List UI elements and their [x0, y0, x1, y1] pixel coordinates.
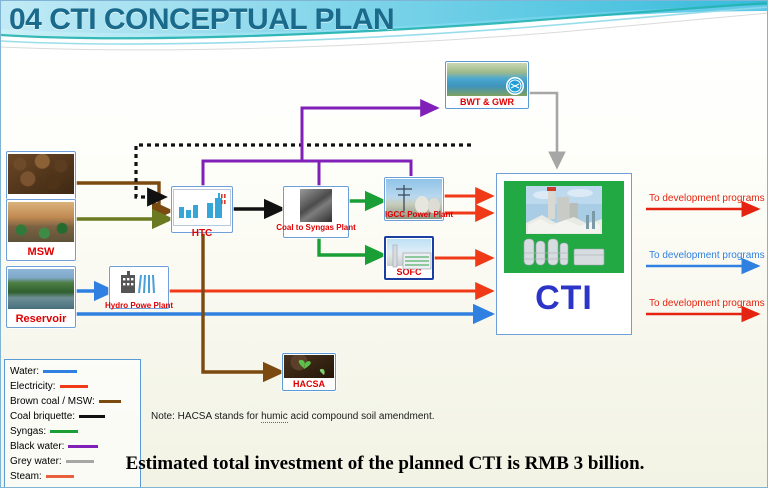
legend-swatch — [50, 430, 78, 433]
legend-label: Black water: — [10, 441, 64, 452]
node-cti[interactable]: CTI — [496, 173, 632, 335]
node-bwt-gwr[interactable]: BWT & GWR — [445, 61, 529, 109]
legend-item: Black water: — [10, 439, 135, 454]
cti-photo — [504, 181, 624, 273]
node-label: HACSA — [293, 380, 325, 389]
legend-label: Coal briquette: — [10, 411, 75, 422]
wire-brown-coal-to-htc — [76, 183, 171, 211]
node-label: MSW — [28, 247, 55, 258]
hydro-plant-glyph — [111, 269, 167, 295]
htc-plant-glyph — [174, 190, 230, 220]
note-underlined-word: humic — [261, 411, 288, 423]
bwt-gwr-photo — [447, 63, 527, 96]
hydro-icon — [111, 269, 167, 300]
sofc-photo — [387, 239, 431, 266]
note-suffix: acid compound soil amendment. — [288, 411, 435, 422]
node-label: Coal to Syngas Plant — [276, 224, 356, 232]
node-label: HTC — [192, 229, 213, 239]
legend-label: Syngas: — [10, 426, 46, 437]
note-prefix: Note: HACSA stands for — [151, 411, 261, 422]
legend-swatch — [68, 445, 98, 448]
legend-item: Brown coal / MSW: — [10, 394, 135, 409]
msw-photo — [8, 202, 74, 242]
node-label: BWT & GWR — [460, 98, 514, 107]
node-reservoir[interactable]: Reservoir — [6, 266, 76, 328]
legend-swatch — [46, 475, 74, 478]
slide-canvas: 04 CTI CONCEPTUAL PLAN — [0, 0, 768, 488]
wire-syngas-to-sofc — [319, 238, 384, 255]
node-htc[interactable]: HTC — [171, 186, 233, 233]
legend-item: Water: — [10, 364, 135, 379]
output-label-2: To development programs — [649, 250, 765, 261]
node-sofc[interactable]: SOFC — [384, 236, 434, 280]
legend-label: Water: — [10, 366, 39, 377]
legend-label: Electricity: — [10, 381, 56, 392]
cti-label: CTI — [535, 281, 593, 315]
wire-htc-to-hacsa — [203, 233, 282, 372]
legend-item: Syngas: — [10, 424, 135, 439]
legend-swatch — [79, 415, 105, 418]
node-label: Reservoir — [16, 314, 67, 325]
output-label-3: To development programs — [649, 298, 765, 309]
coal-to-syngas-photo — [300, 189, 332, 222]
legend-swatch — [43, 370, 77, 373]
reservoir-photo — [8, 269, 74, 309]
node-coal-to-syngas-plant[interactable]: Coal to Syngas Plant — [283, 186, 349, 238]
node-igcc-power-plant[interactable]: IGCC Power Plant — [384, 177, 444, 221]
note-text: Note: HACSA stands for humic acid compou… — [151, 411, 435, 422]
footer-statement: Estimated total investment of the planne… — [1, 453, 768, 475]
legend-item: Electricity: — [10, 379, 135, 394]
legend-swatch — [99, 400, 121, 403]
wire-greywater-bwt-to-cti — [528, 93, 557, 167]
node-msw[interactable]: MSW — [6, 199, 76, 261]
node-hydro-power-plant[interactable]: Hydro Powe Plant — [109, 266, 169, 309]
hacsa-photo — [284, 355, 334, 378]
node-label: IGCC Power Plant — [385, 211, 443, 219]
node-hacsa[interactable]: HACSA — [282, 353, 336, 391]
legend-label: Brown coal / MSW: — [10, 396, 95, 407]
legend-item: Coal briquette: — [10, 409, 135, 424]
htc-icon — [173, 189, 231, 226]
brown-coal-photo — [8, 154, 74, 194]
legend-swatch — [60, 385, 88, 388]
output-label-1: To development programs — [649, 193, 765, 204]
node-label: Hydro Powe Plant — [105, 302, 173, 310]
cti-facility-illustration — [504, 181, 624, 273]
